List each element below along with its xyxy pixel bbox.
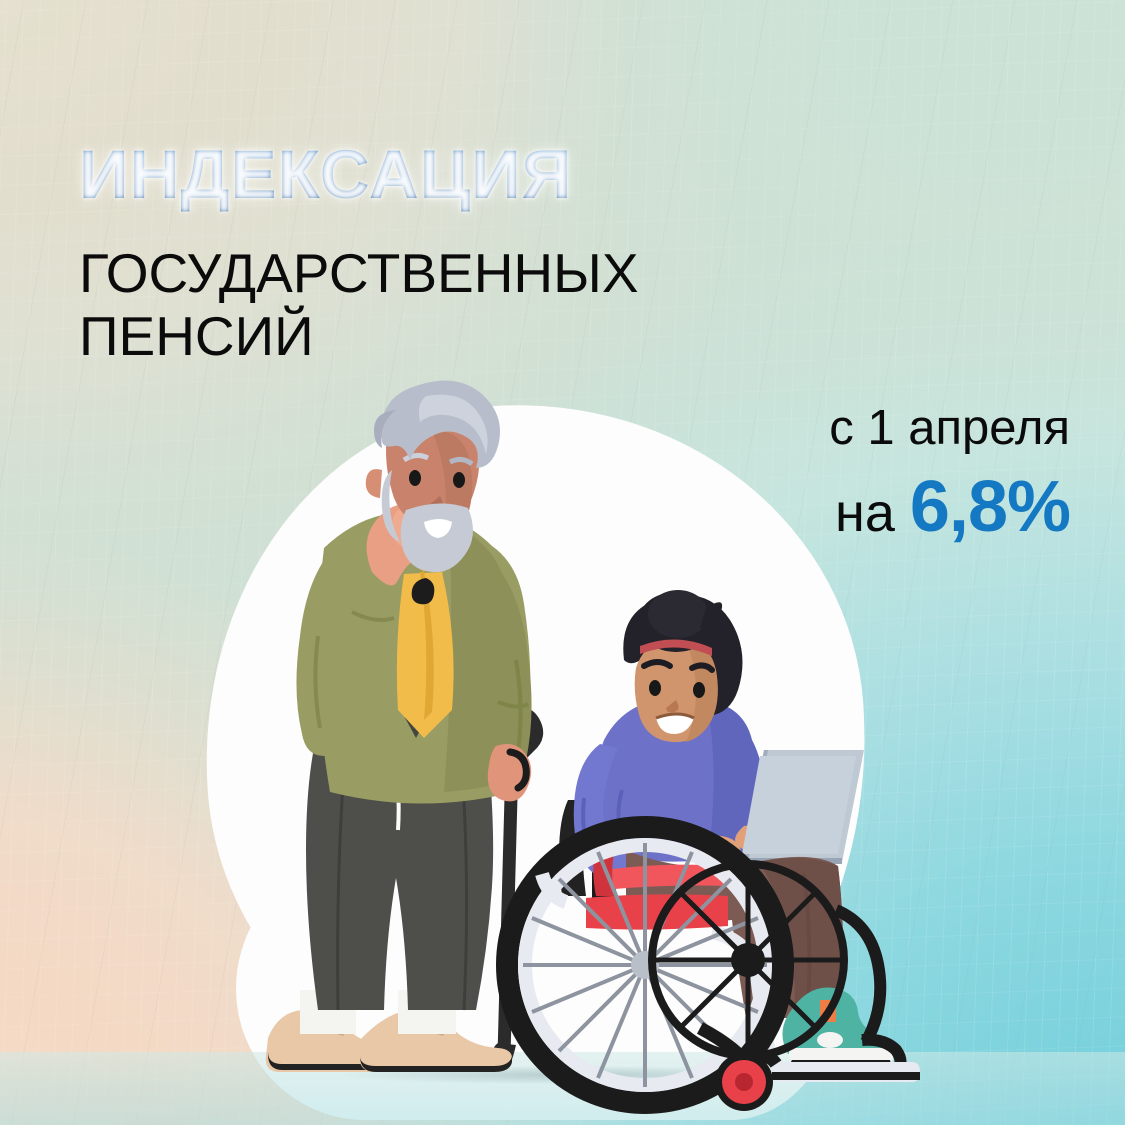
laptop-icon [742, 750, 864, 864]
man-eye-left [409, 470, 421, 486]
rate-amount-line: на 6,8% [760, 471, 1070, 543]
rate-effective-date: с 1 апреля [760, 404, 1070, 453]
page-title: ИНДЕКСАЦИЯ [79, 140, 572, 209]
subtitle-line-2: ПЕНСИЙ [79, 305, 639, 368]
subtitle-line-1: ГОСУДАРСТВЕННЫХ [79, 242, 639, 305]
wheelchair-icon [507, 826, 920, 1111]
woman-eye-right [693, 682, 705, 698]
headline-text: ИНДЕКСАЦИЯ [79, 136, 572, 213]
page-subtitle: ГОСУДАРСТВЕННЫХ ПЕНСИЙ [79, 242, 639, 367]
elderly-man-figure [266, 381, 532, 1072]
rate-percent-value: 6,8% [910, 467, 1070, 547]
rate-prefix-label: на [835, 483, 895, 543]
woman-eye-left [649, 680, 661, 696]
pension-indexation-poster: ИНДЕКСАЦИЯ ГОСУДАРСТВЕННЫХ ПЕНСИЙ с 1 ап… [0, 0, 1125, 1125]
man-eye-right [453, 472, 465, 488]
wheelchair-rear-wheel [652, 864, 844, 1056]
indexation-rate-block: с 1 апреля на 6,8% [760, 404, 1070, 543]
